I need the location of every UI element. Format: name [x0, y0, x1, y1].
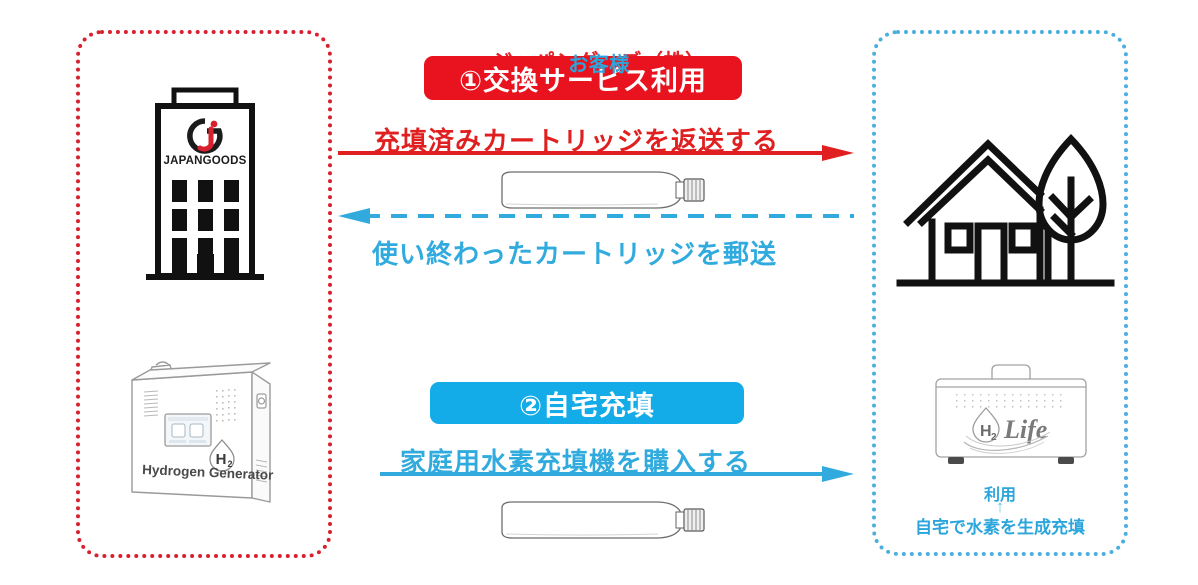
customer-home-generation-label: 自宅で水素を生成充填	[872, 513, 1128, 538]
hydrogen-generator-icon: H 2 Hydrogen Generator	[112, 352, 312, 512]
diagram-canvas: ジャパングッズ（株） JAPANGOODS	[0, 0, 1198, 585]
gas-cartridge-icon	[488, 166, 708, 214]
svg-text:2: 2	[991, 432, 997, 443]
office-building-icon: JAPANGOODS	[140, 88, 270, 288]
svg-text:JAPANGOODS: JAPANGOODS	[164, 155, 247, 167]
flow-1-caption-send: 使い終わったカートリッジを郵送	[372, 234, 777, 271]
flow-1-arrow-right	[338, 145, 854, 161]
gas-cartridge-icon	[488, 496, 708, 544]
house-with-tree-icon	[898, 122, 1113, 297]
flow-1-arrow-left-dashed	[338, 208, 854, 224]
customer-title: お客様	[0, 48, 1198, 77]
svg-text:H: H	[980, 423, 992, 440]
flow-2-badge: ②自宅充填	[430, 382, 744, 424]
flow-2-arrow-right	[380, 466, 854, 482]
portable-h2-life-device-icon: H 2 Life	[920, 362, 1100, 482]
